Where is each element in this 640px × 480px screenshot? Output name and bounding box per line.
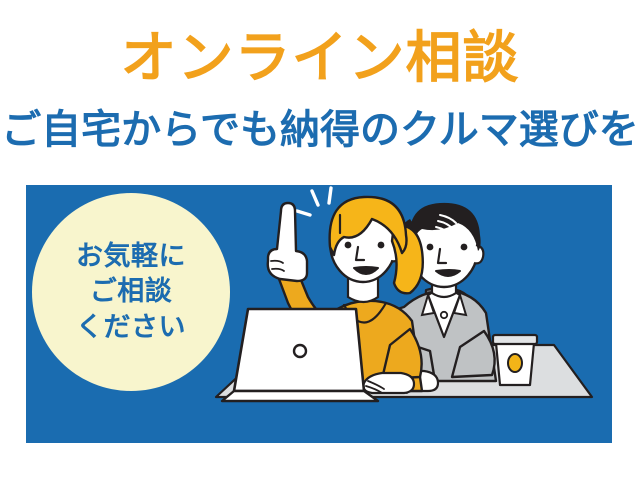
- subheadline-text: ご自宅からでも納得のクルマ選びを: [0, 108, 640, 152]
- online-consultation-banner: オンライン相談 ご自宅からでも納得のクルマ選びを: [0, 0, 640, 480]
- headline-text: オンライン相談: [0, 30, 640, 89]
- illustration-panel: お気軽に ご相談 ください: [26, 185, 612, 443]
- coffee-cup-icon: [493, 335, 537, 385]
- callout-badge: お気軽に ご相談 ください: [32, 193, 230, 391]
- badge-line-3: ください: [76, 310, 186, 346]
- sparkle-marks-icon: [297, 188, 331, 215]
- laptop-icon: [222, 309, 378, 401]
- badge-line-1: お気軽に: [76, 239, 186, 275]
- badge-line-2: ご相談: [90, 274, 173, 310]
